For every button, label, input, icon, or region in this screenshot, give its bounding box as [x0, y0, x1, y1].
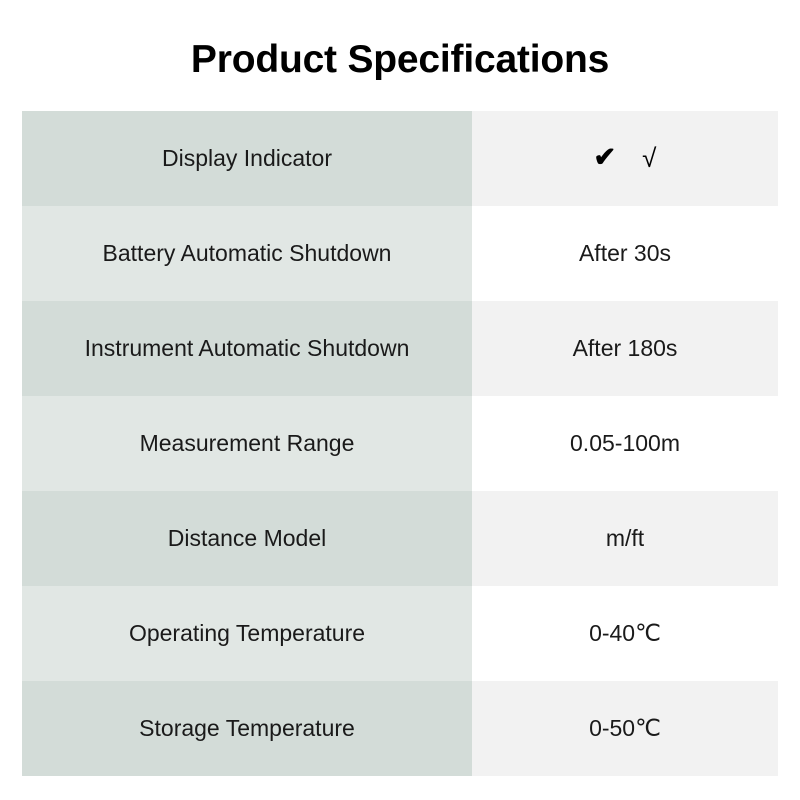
spec-value-battery-automatic-shutdown: After 30s — [472, 206, 778, 301]
spec-label-instrument-automatic-shutdown: Instrument Automatic Shutdown — [22, 301, 472, 396]
spec-label-display-indicator: Display Indicator — [22, 111, 472, 206]
spec-label-measurement-range: Measurement Range — [22, 396, 472, 491]
spec-value-operating-temperature: 0-40℃ — [472, 586, 778, 681]
spec-label-storage-temperature: Storage Temperature — [22, 681, 472, 776]
spec-value-instrument-automatic-shutdown: After 180s — [472, 301, 778, 396]
spec-label-distance-model: Distance Model — [22, 491, 472, 586]
spec-value-storage-temperature: 0-50℃ — [472, 681, 778, 776]
table-row: Distance Model m/ft — [22, 491, 778, 586]
spec-label-battery-automatic-shutdown: Battery Automatic Shutdown — [22, 206, 472, 301]
square-root-check-mark-icon: √ — [642, 145, 656, 171]
table-row: Operating Temperature 0-40℃ — [22, 586, 778, 681]
page-title: Product Specifications — [0, 36, 800, 84]
specifications-table: Display Indicator ✔ √ Battery Automatic … — [22, 111, 778, 776]
table-row: Display Indicator ✔ √ — [22, 111, 778, 206]
product-specifications-page: Product Specifications Display Indicator… — [0, 0, 800, 800]
table-row: Instrument Automatic Shutdown After 180s — [22, 301, 778, 396]
table-row: Storage Temperature 0-50℃ — [22, 681, 778, 776]
check-mark-group: ✔ √ — [594, 144, 657, 171]
table-row: Battery Automatic Shutdown After 30s — [22, 206, 778, 301]
table-row: Measurement Range 0.05-100m — [22, 396, 778, 491]
heavy-check-mark-icon: ✔ — [594, 144, 617, 171]
spec-value-distance-model: m/ft — [472, 491, 778, 586]
spec-label-operating-temperature: Operating Temperature — [22, 586, 472, 681]
spec-value-display-indicator: ✔ √ — [472, 111, 778, 206]
spec-value-measurement-range: 0.05-100m — [472, 396, 778, 491]
